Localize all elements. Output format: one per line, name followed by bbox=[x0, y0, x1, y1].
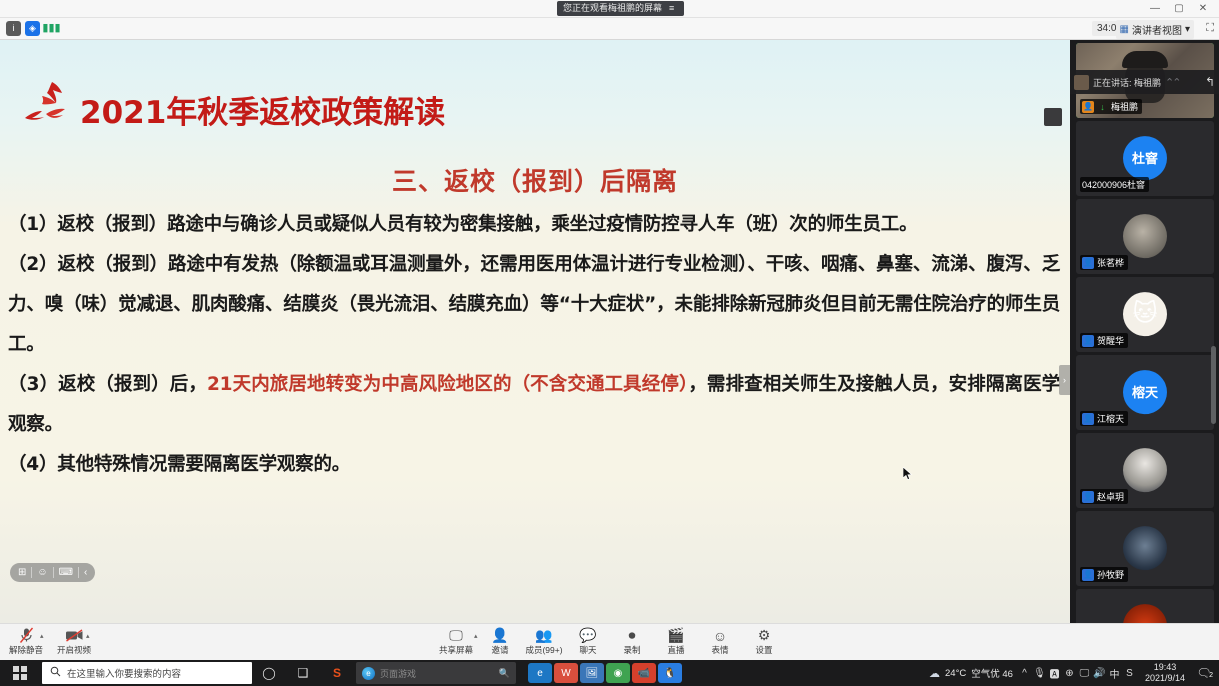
toolbar-item-label: 表情 bbox=[711, 645, 728, 655]
taskbar-app-edge[interactable]: e bbox=[528, 663, 552, 683]
chevrons-up-icon: ⌃⌃ bbox=[1165, 76, 1179, 89]
window-controls: — ▢ ✕ bbox=[1143, 0, 1215, 18]
toolbar-item-icon: 💬 bbox=[579, 627, 596, 644]
taskbar-app-photos[interactable]: 🖼 bbox=[580, 663, 604, 683]
paragraph-text: （2）返校（报到）路途中有发热（除额温或耳温测量外，还需用医用体温计进行专业检测… bbox=[8, 254, 1060, 355]
slide-mini-toolbar[interactable]: ⊞ ☺ ⌨ ‹ bbox=[10, 563, 95, 582]
toolbar-item-icon: 🖵 bbox=[449, 627, 463, 644]
keyboard-icon[interactable]: ⌨ bbox=[54, 563, 78, 582]
screen-share-notice-text: 您正在观看梅祖鹏的屏幕 bbox=[563, 1, 662, 16]
edge-search-text: 页面游戏 bbox=[380, 667, 416, 680]
participant-name: 赵卓玥 bbox=[1097, 490, 1124, 503]
slide-paragraph: （2）返校（报到）路途中有发热（除额温或耳温测量外，还需用医用体温计进行专业检测… bbox=[8, 245, 1060, 365]
search-icon bbox=[50, 666, 61, 680]
taskbar-app-chrome[interactable]: ◉ bbox=[606, 663, 630, 683]
participant-tile[interactable]: 杜窨042000906杜窨 bbox=[1076, 121, 1214, 196]
participant-name: 孙牧野 bbox=[1097, 568, 1124, 581]
participant-name-badge: 👤张茗桦 bbox=[1080, 255, 1128, 270]
maximize-button[interactable]: ▢ bbox=[1167, 0, 1191, 18]
toolbar-item-icon: 👥 bbox=[535, 627, 552, 644]
participant-name-badge: 👤贺醒华 bbox=[1080, 333, 1128, 348]
mic-toggle-button[interactable]: 解除静音 bbox=[0, 627, 52, 655]
tray-icon[interactable]: 🅰 bbox=[1047, 666, 1062, 681]
mic-toggle-label: 解除静音 bbox=[9, 645, 43, 655]
participant-tile[interactable]: 🐱👤贺醒华 bbox=[1076, 277, 1214, 352]
system-tray: ☁ 24°C 空气优 46 ^🎙🅰⊕🖵🔊中S 19:43 2021/9/14 🗨… bbox=[929, 660, 1219, 686]
participant-mic-icon: 👤 bbox=[1082, 569, 1094, 581]
mouse-cursor bbox=[903, 467, 913, 481]
taskbar-app-qq[interactable]: 🐧 bbox=[658, 663, 682, 683]
avatar: 榕天 bbox=[1123, 370, 1167, 414]
participant-mic-icon: 👤 bbox=[1082, 413, 1094, 425]
avatar bbox=[1123, 448, 1167, 492]
clock-date: 2021/9/14 bbox=[1145, 673, 1185, 684]
notification-count: 2 bbox=[1207, 672, 1215, 679]
slide-body-text: （1）返校（报到）路途中与确诊人员或疑似人员有较为密集接触，乘坐过疫情防控寻人车… bbox=[8, 205, 1060, 485]
toolbar-item-label: 设置 bbox=[755, 645, 772, 655]
toolbar-item-icon: 🎬 bbox=[667, 627, 684, 644]
air-quality-label: 空气优 46 bbox=[971, 666, 1013, 680]
toolbar-item-label: 共享屏幕 bbox=[439, 645, 473, 655]
minimize-button[interactable]: — bbox=[1143, 0, 1167, 18]
screen-share-notice-pill[interactable]: 您正在观看梅祖鹏的屏幕 ≡ bbox=[557, 1, 684, 16]
tray-icon[interactable]: 🎙 bbox=[1032, 668, 1047, 679]
shared-screen-stage[interactable]: 2021年秋季返校政策解读 三、返校（报到）后隔离 （1）返校（报到）路途中与确… bbox=[0, 40, 1070, 623]
toolbar-item-icon: ⚙ bbox=[758, 627, 771, 644]
mic-options-caret[interactable]: ▴ bbox=[40, 632, 44, 640]
tray-icon[interactable]: 🖵 bbox=[1077, 668, 1092, 679]
toolbar-item-label: 聊天 bbox=[579, 645, 596, 655]
toolbar-item-label: 录制 bbox=[623, 645, 640, 655]
edge-search-box[interactable]: e 页面游戏 🔍 bbox=[356, 662, 516, 684]
toolbar-7-button[interactable]: ⚙设置 bbox=[738, 627, 790, 655]
view-mode-selector[interactable]: ▦ 演讲者视图 ▾ bbox=[1116, 20, 1194, 39]
start-button[interactable] bbox=[0, 660, 40, 686]
status-icon-group: i ◈ ▮▮▮ bbox=[6, 21, 59, 36]
slide-deck-title: 2021年秋季返校政策解读 bbox=[80, 96, 445, 130]
cortana-icon[interactable]: ◯ bbox=[252, 660, 286, 686]
task-view-icon[interactable]: ❑ bbox=[286, 660, 320, 686]
meeting-toolbar: 解除静音 ▴ 开启视频 ▴ 🖵共享屏幕▴👤邀请👥成员(99+)💬聊天⏺录制🎬直播… bbox=[0, 623, 1219, 660]
cloud-icon: ☁ bbox=[929, 667, 940, 680]
shield-icon[interactable]: ◈ bbox=[25, 21, 40, 36]
signal-icon[interactable]: ▮▮▮ bbox=[44, 21, 59, 36]
minimize-rail-icon[interactable]: ↰ bbox=[1205, 75, 1215, 89]
participant-name: 042000906杜窨 bbox=[1082, 178, 1145, 191]
toolbar-item-label: 邀请 bbox=[491, 645, 508, 655]
weather-widget[interactable]: ☁ 24°C 空气优 46 bbox=[929, 666, 1013, 680]
view-grid-icon: ▦ bbox=[1120, 24, 1129, 35]
paragraph-text: （1）返校（报到）路途中与确诊人员或疑似人员有较为密集接触，乘坐过疫情防控寻人车… bbox=[8, 214, 917, 235]
taskbar-app-buttons: eW🖼◉📹🐧 bbox=[528, 663, 682, 683]
participant-name: 江榕天 bbox=[1097, 412, 1124, 425]
participant-tile[interactable]: 👤张茗桦 bbox=[1076, 199, 1214, 274]
active-speaker-banner: 正在讲话: 梅祖鹏 ⌃⌃ ↰ bbox=[1070, 70, 1219, 94]
hamburger-icon[interactable]: ≡ bbox=[669, 1, 678, 16]
sogou-taskbar-icon[interactable]: S bbox=[320, 660, 354, 686]
tray-icon[interactable]: ^ bbox=[1017, 668, 1032, 679]
toolbar-item-label: 直播 bbox=[667, 645, 684, 655]
avatar bbox=[1123, 526, 1167, 570]
info-icon[interactable]: i bbox=[6, 21, 21, 36]
tray-icon[interactable]: ⊕ bbox=[1062, 668, 1077, 679]
participant-name-badge: 👤江榕天 bbox=[1080, 411, 1128, 426]
fullscreen-icon[interactable]: ⛶ bbox=[1206, 22, 1214, 35]
emoji-icon[interactable]: ☺ bbox=[32, 563, 52, 582]
video-options-caret[interactable]: ▴ bbox=[86, 632, 90, 640]
slide-deck-header: 2021年秋季返校政策解读 bbox=[22, 78, 445, 130]
participant-name-badge: 👤↓梅祖鹏 bbox=[1080, 99, 1142, 114]
participant-mic-icon: 👤 bbox=[1082, 257, 1094, 269]
view-mode-label: 演讲者视图 bbox=[1132, 22, 1182, 37]
active-speaker-label: 正在讲话: 梅祖鹏 bbox=[1093, 76, 1161, 89]
toolbar-item-icon: 👤 bbox=[491, 627, 508, 644]
window-titlebar: 您正在观看梅祖鹏的屏幕 ≡ — ▢ ✕ bbox=[0, 0, 1219, 18]
participant-name: 张茗桦 bbox=[1097, 256, 1124, 269]
participant-rail[interactable]: 👤↓梅祖鹏杜窨042000906杜窨👤张茗桦🐱👤贺醒华榕天👤江榕天👤赵卓玥👤孙牧… bbox=[1070, 40, 1219, 623]
microphone-muted-icon bbox=[19, 627, 34, 644]
taskbar-search-placeholder: 在这里输入你要搜索的内容 bbox=[67, 666, 181, 680]
participant-name-badge: 👤孙牧野 bbox=[1080, 567, 1128, 582]
taskbar-search-input[interactable]: 在这里输入你要搜索的内容 bbox=[42, 662, 252, 684]
toolbar-item-icon: ⏺ bbox=[629, 627, 636, 644]
highlighted-text: 21天内旅居地转变为中高风险地区的（不含交通工具经停） bbox=[207, 374, 688, 395]
chevron-down-icon: ▾ bbox=[1185, 24, 1190, 35]
download-arrow-icon: ↓ bbox=[1097, 102, 1108, 112]
meeting-status-bar: i ◈ ▮▮▮ 34:07 ▦ 演讲者视图 ▾ ⛶ bbox=[0, 18, 1219, 40]
tray-icon[interactable]: 🔊 bbox=[1092, 668, 1107, 679]
windows-logo-icon bbox=[13, 666, 27, 680]
slide-paragraph: （1）返校（报到）路途中与确诊人员或疑似人员有较为密集接触，乘坐过疫情防控寻人车… bbox=[8, 205, 1060, 245]
taskbar-app-wps[interactable]: W bbox=[554, 663, 578, 683]
camera-off-icon bbox=[65, 627, 84, 644]
avatar: 🐱 bbox=[1123, 292, 1167, 336]
clock-time: 19:43 bbox=[1154, 662, 1177, 673]
participant-name: 梅祖鹏 bbox=[1111, 100, 1138, 113]
taskbar-app-meeting[interactable]: 📹 bbox=[632, 663, 656, 683]
avatar bbox=[1123, 214, 1167, 258]
avatar bbox=[1123, 604, 1167, 623]
participant-mic-icon: 👤 bbox=[1082, 491, 1094, 503]
grid-icon[interactable]: ⊞ bbox=[13, 563, 31, 582]
presentation-slide: 2021年秋季返校政策解读 三、返校（报到）后隔离 （1）返校（报到）路途中与确… bbox=[0, 40, 1070, 623]
slide-section-heading: 三、返校（报到）后隔离 bbox=[0, 162, 1070, 198]
participant-name-badge: 042000906杜窨 bbox=[1080, 177, 1149, 192]
close-button[interactable]: ✕ bbox=[1191, 0, 1215, 18]
weather-temperature: 24°C bbox=[945, 668, 966, 679]
participant-name: 贺醒华 bbox=[1097, 334, 1124, 347]
participant-tile[interactable]: 👤赵卓玥 bbox=[1076, 433, 1214, 508]
meeting-app-window: 您正在观看梅祖鹏的屏幕 ≡ — ▢ ✕ i ◈ ▮▮▮ 34:07 ▦ 演讲者视… bbox=[0, 0, 1219, 686]
edge-search-icon: 🔍 bbox=[499, 668, 510, 679]
dove-logo-icon bbox=[22, 78, 94, 130]
tray-icon[interactable]: S bbox=[1122, 668, 1137, 679]
paragraph-text: （4）其他特殊情况需要隔离医学观察的。 bbox=[8, 454, 350, 475]
avatar: 杜窨 bbox=[1123, 136, 1167, 180]
taskbar-clock[interactable]: 19:43 2021/9/14 bbox=[1145, 662, 1185, 684]
edge-icon: e bbox=[362, 667, 375, 680]
video-toggle-button[interactable]: 开启视频 bbox=[48, 627, 100, 655]
video-toggle-label: 开启视频 bbox=[57, 645, 91, 655]
person-cap bbox=[1122, 51, 1168, 68]
participant-mic-icon: 👤 bbox=[1082, 101, 1094, 113]
collapse-icon[interactable]: ‹ bbox=[79, 563, 92, 582]
participant-tile[interactable]: 👤孙牧野 bbox=[1076, 511, 1214, 586]
participant-tile[interactable]: 榕天👤江榕天 bbox=[1076, 355, 1214, 430]
tray-icon-group: ^🎙🅰⊕🖵🔊中S bbox=[1017, 666, 1137, 681]
speaker-avatar-badge bbox=[1044, 108, 1062, 126]
slide-paragraph: （3）返校（报到）后，21天内旅居地转变为中高风险地区的（不含交通工具经停），需… bbox=[8, 365, 1060, 445]
slide-next-arrow[interactable]: › bbox=[1059, 365, 1070, 395]
windows-taskbar: 在这里输入你要搜索的内容 ◯ ❑ S e 页面游戏 🔍 eW🖼◉📹🐧 ☁ 24°… bbox=[0, 660, 1219, 686]
notification-center-icon[interactable]: 🗨 2 bbox=[1193, 666, 1215, 680]
paragraph-text: （3）返校（报到）后， bbox=[8, 374, 207, 395]
speaker-thumbnail bbox=[1074, 75, 1089, 90]
toolbar-item-icon: ☺ bbox=[713, 627, 727, 644]
participant-tile[interactable] bbox=[1076, 589, 1214, 623]
participant-mic-icon: 👤 bbox=[1082, 335, 1094, 347]
toolbar-item-label: 成员(99+) bbox=[525, 645, 562, 655]
rail-scrollbar[interactable] bbox=[1211, 346, 1216, 424]
tray-icon[interactable]: 中 bbox=[1107, 666, 1122, 681]
participant-name-badge: 👤赵卓玥 bbox=[1080, 489, 1128, 504]
